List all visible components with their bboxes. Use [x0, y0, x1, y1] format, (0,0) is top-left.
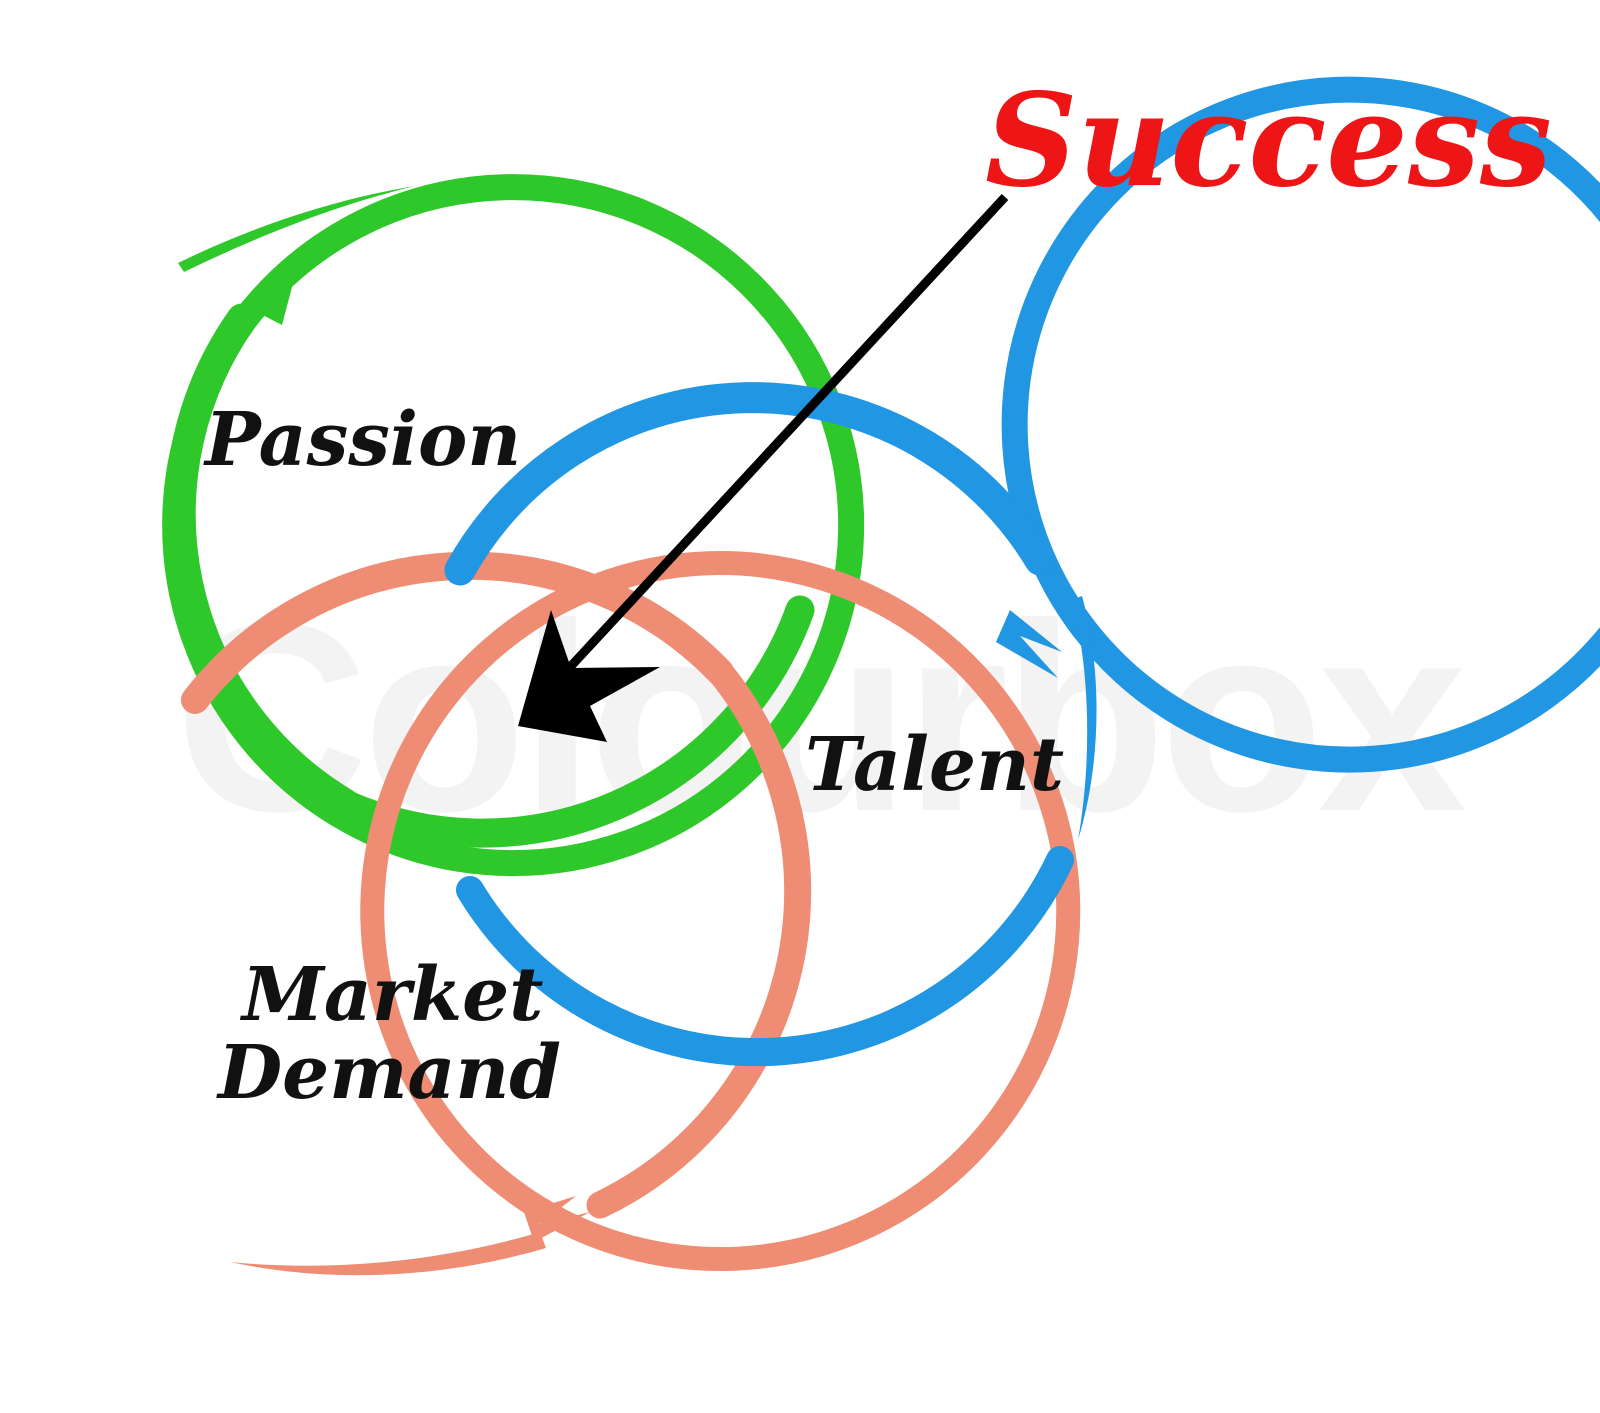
label-passion: Passion — [203, 397, 521, 483]
talent-ring-weight-top — [460, 398, 1040, 570]
market-demand-ring-tail — [230, 1232, 546, 1275]
label-market-demand-line1: Market — [239, 952, 543, 1038]
label-market-demand-line2: Demand — [216, 1030, 561, 1116]
venn-diagram-svg: Colourbox — [0, 0, 1600, 1413]
diagram-canvas: Colourbox — [0, 0, 1600, 1413]
page-title: Success — [985, 66, 1552, 216]
label-talent: Talent — [805, 722, 1064, 808]
